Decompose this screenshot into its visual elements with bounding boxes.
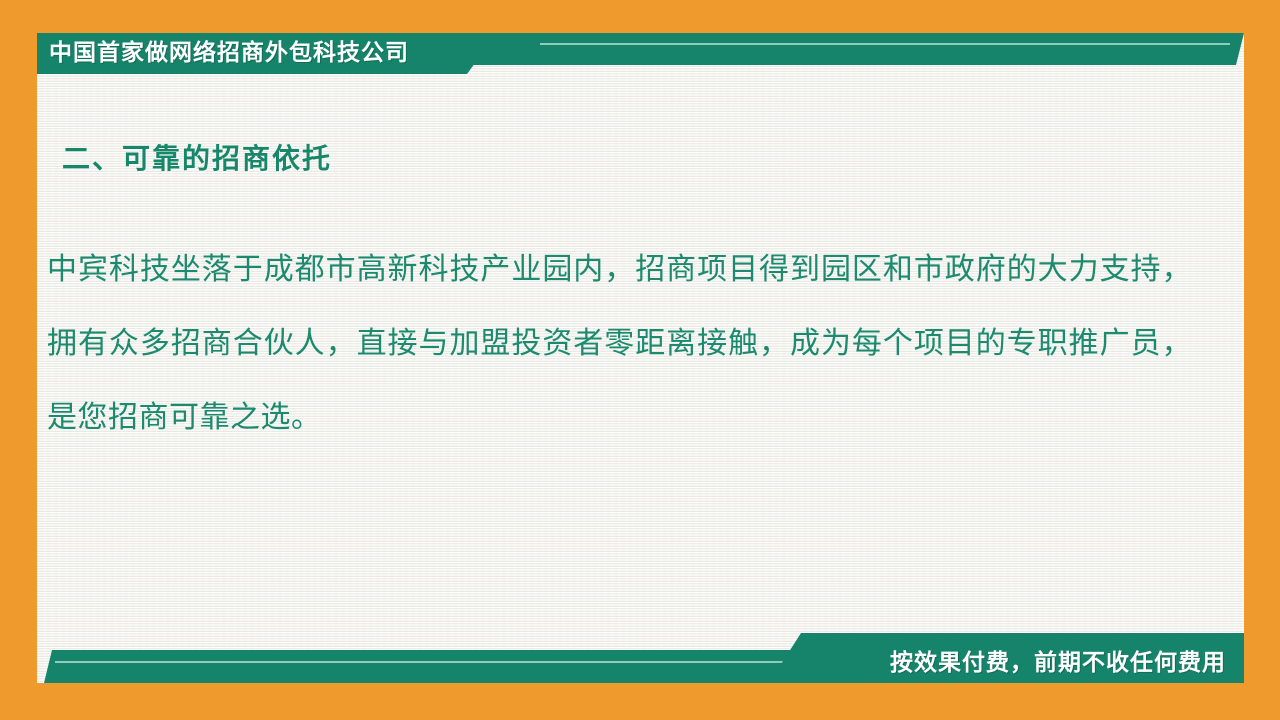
presentation-slide: 中国首家做网络招商外包科技公司 二、可靠的招商依托 中宾科技坐落于成都市高新科技… bbox=[0, 0, 1280, 720]
slide-canvas: 中国首家做网络招商外包科技公司 二、可靠的招商依托 中宾科技坐落于成都市高新科技… bbox=[37, 33, 1244, 683]
section-heading: 二、可靠的招商依托 bbox=[62, 137, 332, 177]
slide-header: 中国首家做网络招商外包科技公司 bbox=[37, 33, 1244, 75]
header-hairline-divider bbox=[540, 43, 1230, 45]
header-title: 中国首家做网络招商外包科技公司 bbox=[49, 37, 409, 67]
slide-footer: 按效果付费，前期不收任何费用 bbox=[37, 633, 1244, 683]
body-paragraph: 中宾科技坐落于成都市高新科技产业园内，招商项目得到园区和市政府的大力支持，拥有众… bbox=[47, 233, 1192, 455]
footer-slogan: 按效果付费，前期不收任何费用 bbox=[890, 646, 1226, 678]
footer-hairline-divider bbox=[55, 661, 905, 663]
